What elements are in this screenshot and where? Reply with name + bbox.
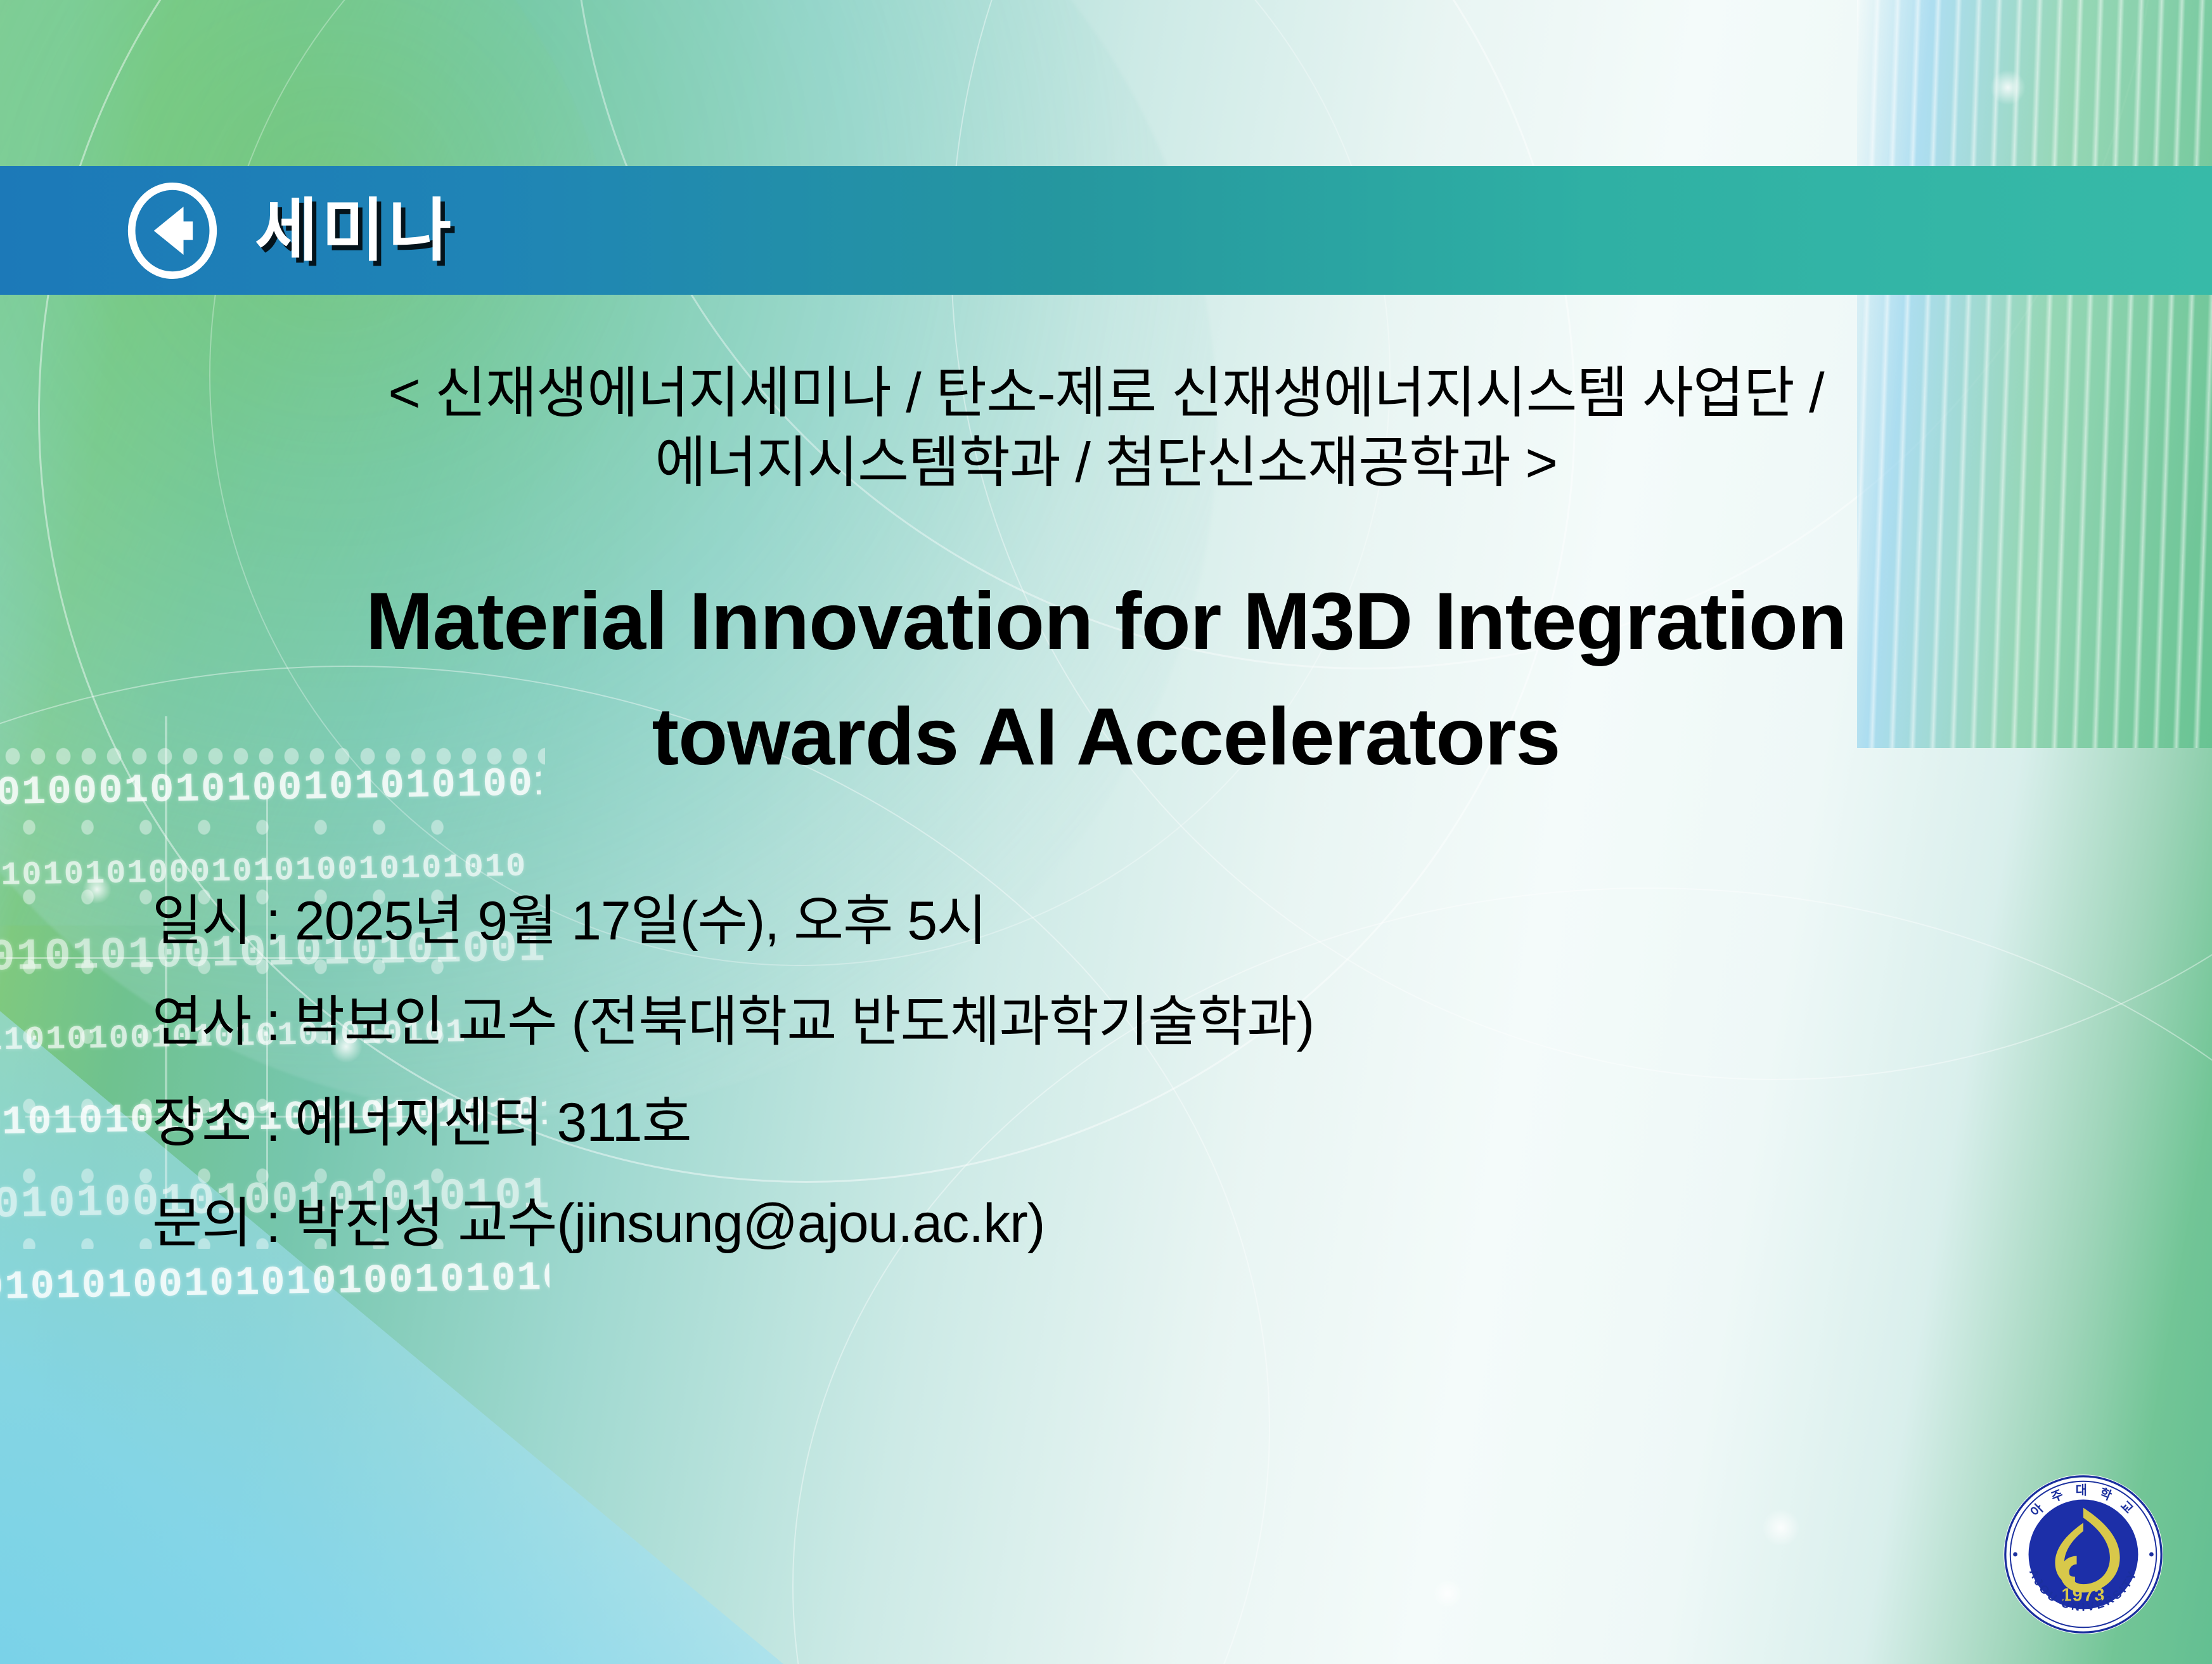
light-blob-5 (1990, 70, 2026, 105)
logo-dot-left (2013, 1552, 2017, 1557)
detail-speaker: 연사 : 박보인 교수 (전북대학교 반도체과학기술학과) (152, 972, 2212, 1073)
page-title: Material Innovation for M3D Integration … (136, 564, 2076, 795)
affiliation-line-1: < 신재생에너지세미나 / 탄소-제로 신재생에너지시스템 사업단 / (388, 361, 1823, 424)
header-bar: 세미나 (0, 166, 2212, 295)
seminar-poster: 10100010101001010101001010 0101010101000… (0, 0, 2212, 1664)
seminar-affiliation: < 신재생에너지세미나 / 탄소-제로 신재생에너지시스템 사업단 / 에너지시… (200, 358, 2012, 498)
header-title: 세미나 (255, 197, 455, 265)
poster-content: < 신재생에너지세미나 / 탄소-제로 신재생에너지시스템 사업단 / 에너지시… (0, 295, 2212, 1274)
back-arrow-icon[interactable] (125, 183, 219, 279)
light-blob-4 (1432, 1578, 1463, 1609)
ajou-university-logo: 1973 아 주 대 학 교 AJOU UNIVERSITY (2000, 1471, 2166, 1637)
logo-dot-right (2149, 1552, 2154, 1557)
detail-contact: 문의 : 박진성 교수(jinsung@ajou.ac.kr) (152, 1173, 2212, 1274)
title-line-2: towards AI Accelerators (136, 680, 2076, 795)
affiliation-line-2: 에너지시스템학과 / 첨단신소재공학과 > (200, 428, 2012, 498)
detail-venue: 장소 : 에너지센터 311호 (152, 1073, 2212, 1173)
light-blob-3 (1762, 1509, 1800, 1547)
title-line-1: Material Innovation for M3D Integration (136, 564, 2076, 680)
detail-datetime: 일시 : 2025년 9월 17일(수), 오후 5시 (152, 871, 2212, 972)
seminar-details: 일시 : 2025년 9월 17일(수), 오후 5시 연사 : 박보인 교수 … (152, 871, 2212, 1274)
